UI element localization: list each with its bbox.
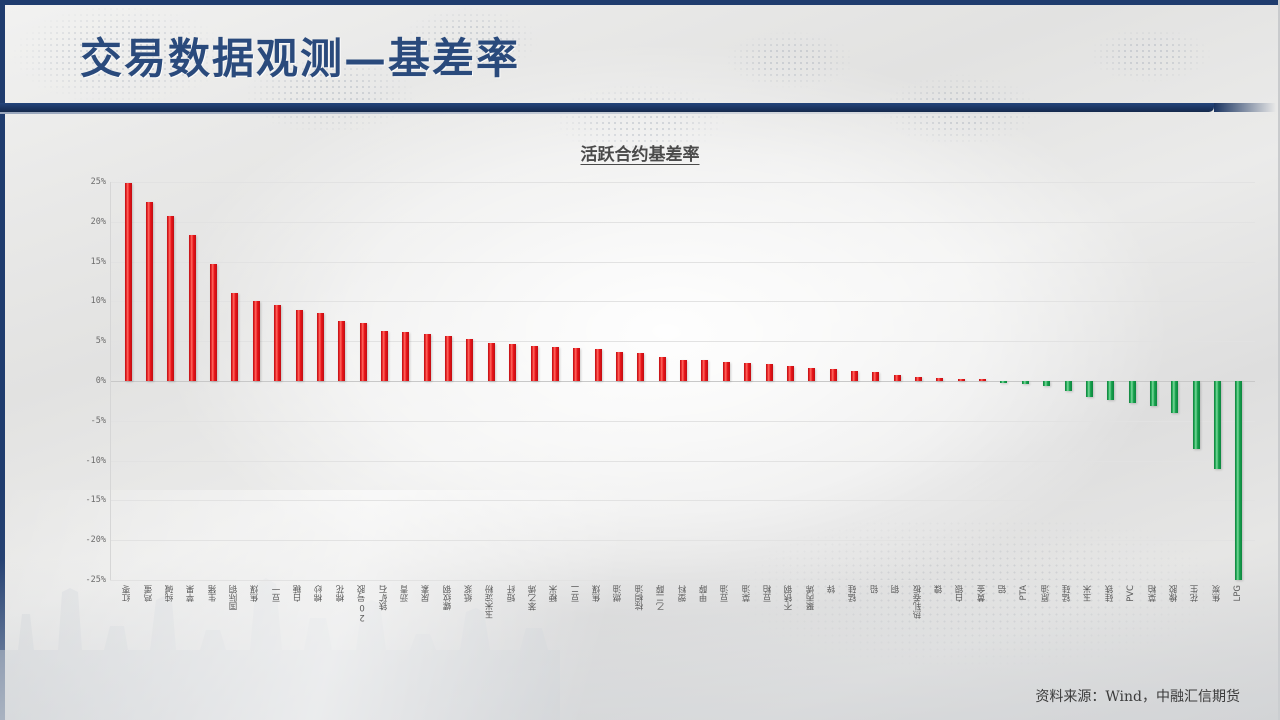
x-label-玉米: 玉米 (1084, 585, 1093, 602)
x-label-锰硅: 锰硅 (1063, 585, 1072, 602)
x-label-豆油: 豆油 (721, 585, 730, 602)
bar-原油 (1043, 381, 1050, 386)
gridline (110, 222, 1255, 223)
x-label-焦煤: 焦煤 (251, 585, 260, 602)
gridline (110, 500, 1255, 501)
bar-聚丙烯 (808, 368, 815, 381)
x-label-黄金: 黄金 (978, 585, 987, 602)
x-label-沥青: 沥青 (401, 585, 410, 602)
x-label-橡胶: 橡胶 (1170, 585, 1179, 602)
bar-20号胶 (360, 323, 367, 381)
bar-甲醇 (701, 360, 708, 381)
bar-鸡蛋 (146, 202, 153, 381)
bar-焦煤 (253, 301, 260, 381)
x-label-短纤: 短纤 (508, 585, 517, 602)
x-label-焦炭: 焦炭 (1213, 585, 1222, 602)
bar-生猪 (210, 264, 217, 381)
x-label-塑料: 塑料 (679, 585, 688, 602)
x-label-玉米淀粉: 玉米淀粉 (486, 585, 495, 619)
title-underline-hairline (0, 112, 1150, 114)
bar-焦炭 (1214, 381, 1221, 469)
bar-玉米 (1086, 381, 1093, 397)
slide-header: 交易数据观测—基差率 (5, 5, 1280, 103)
bar-燃油 (616, 352, 623, 381)
y-tick--15: -15% (76, 495, 106, 505)
zero-line (110, 381, 1255, 382)
x-label-乙二醇: 乙二醇 (657, 585, 666, 611)
x-label-棉花: 棉花 (337, 585, 346, 602)
bar-豆粕 (766, 364, 773, 381)
x-label-白银: 白银 (956, 585, 965, 602)
x-label-镍: 镍 (935, 585, 944, 594)
x-label-花生: 花生 (1191, 585, 1200, 602)
x-label-铝: 铝 (999, 585, 1008, 594)
y-axis-line (110, 182, 111, 580)
bar-镍 (936, 378, 943, 381)
bar-纯碱 (167, 216, 174, 381)
bar-豆二 (573, 348, 580, 381)
x-label-LPG: LPG (1234, 585, 1243, 601)
x-label-生猪: 生猪 (209, 585, 218, 602)
bar-苹果 (189, 235, 196, 381)
y-tick--25: -25% (76, 575, 106, 585)
x-label-聚丙烯: 聚丙烯 (807, 585, 816, 611)
x-label-硅铁: 硅铁 (1106, 585, 1115, 602)
bar-螺纹钢 (445, 336, 452, 381)
bar-热轧卷板 (915, 377, 922, 381)
x-label-棕榈油: 棕榈油 (636, 585, 645, 611)
y-tick-25: 25% (76, 177, 106, 187)
bar-铝 (1000, 381, 1007, 383)
bar-不锈钢 (787, 366, 794, 381)
bar-沥青 (402, 332, 409, 381)
bar-白糖 (296, 310, 303, 381)
x-label-苹果: 苹果 (187, 585, 196, 602)
bar-菜油 (744, 363, 751, 381)
bar-锌 (830, 369, 837, 381)
x-label-PTA: PTA (1020, 585, 1029, 600)
page-title: 交易数据观测—基差率 (80, 25, 520, 86)
y-tick-5: 5% (76, 336, 106, 346)
x-label-PVC: PVC (1127, 585, 1136, 602)
skyline-silhouette-decoration (0, 530, 560, 720)
gridline (110, 580, 1255, 581)
x-label-纸浆: 纸浆 (465, 585, 474, 602)
bar-棉纱 (317, 313, 324, 381)
gridline (110, 182, 1255, 183)
x-label-热轧卷板: 热轧卷板 (914, 585, 923, 619)
gridline (110, 301, 1255, 302)
x-label-纯碱: 纯碱 (166, 585, 175, 602)
bar-豆油 (723, 362, 730, 381)
x-label-豆粕: 豆粕 (764, 585, 773, 602)
x-label-铜: 铜 (892, 585, 901, 594)
gridline (110, 262, 1255, 263)
x-label-尿素: 尿素 (422, 585, 431, 602)
bar-PVC (1129, 381, 1136, 403)
x-label-螺纹钢: 螺纹钢 (444, 585, 453, 611)
x-label-不锈钢: 不锈钢 (785, 585, 794, 611)
bar-苯乙烯 (531, 346, 538, 381)
x-label-燃油: 燃油 (614, 585, 623, 602)
bar-棕榈油 (637, 353, 644, 381)
x-label-白糖: 白糖 (294, 585, 303, 602)
y-tick--10: -10% (76, 456, 106, 466)
x-label-豆二: 豆二 (572, 585, 581, 602)
title-underline-bar (0, 103, 1214, 112)
bar-锰硅 (1065, 381, 1072, 391)
bar-国际铜 (231, 293, 238, 381)
bar-塑料 (680, 360, 687, 381)
x-label-粳米: 粳米 (550, 585, 559, 602)
x-label-20号胶: 20号胶 (358, 585, 367, 622)
x-label-锌: 锌 (828, 585, 837, 594)
bar-短纤 (509, 344, 516, 381)
x-label-甲醇: 甲醇 (700, 585, 709, 602)
source-note: 资料来源：Wind，中融汇信期货 (1035, 686, 1240, 706)
x-label-国际铜: 国际铜 (230, 585, 239, 611)
bar-豆一 (274, 305, 281, 381)
bar-铅 (872, 372, 879, 381)
bar-铁矿石 (381, 331, 388, 381)
x-label-锰硅: 锰硅 (849, 585, 858, 602)
chart-title: 活跃合约基差率 (0, 140, 1280, 165)
bar-黄金 (979, 379, 986, 381)
bar-棉花 (338, 321, 345, 381)
y-tick-0: 0% (76, 376, 106, 386)
bar-铜 (894, 375, 901, 381)
bar-焦煤 (595, 349, 602, 381)
bar-PTA (1022, 381, 1029, 384)
x-label-铅: 铅 (871, 585, 880, 594)
x-label-鸡蛋: 鸡蛋 (145, 585, 154, 602)
x-label-菜粕: 菜粕 (1149, 585, 1158, 602)
bar-粳米 (552, 347, 559, 381)
x-label-豆一: 豆一 (273, 585, 282, 602)
y-tick--5: -5% (76, 416, 106, 426)
gridline (110, 341, 1255, 342)
bar-花生 (1193, 381, 1200, 449)
bar-LPG (1235, 381, 1242, 580)
bar-纸浆 (466, 339, 473, 381)
x-label-原油: 原油 (1042, 585, 1051, 602)
x-label-苯乙烯: 苯乙烯 (529, 585, 538, 611)
y-tick-15: 15% (76, 257, 106, 267)
bar-白银 (958, 379, 965, 381)
y-tick--20: -20% (76, 535, 106, 545)
bar-尿素 (424, 334, 431, 381)
y-tick-20: 20% (76, 217, 106, 227)
bar-乙二醇 (659, 357, 666, 381)
x-label-焦煤: 焦煤 (593, 585, 602, 602)
x-label-红枣: 红枣 (123, 585, 132, 602)
bar-玉米淀粉 (488, 343, 495, 381)
bar-红枣 (125, 183, 132, 381)
y-tick-10: 10% (76, 296, 106, 306)
x-label-菜油: 菜油 (743, 585, 752, 602)
x-label-棉纱: 棉纱 (315, 585, 324, 602)
bar-锰硅 (851, 371, 858, 381)
x-label-铁矿石: 铁矿石 (380, 585, 389, 611)
bar-硅铁 (1107, 381, 1114, 400)
gridline (110, 461, 1255, 462)
bar-橡胶 (1171, 381, 1178, 413)
bar-菜粕 (1150, 381, 1157, 406)
gridline (110, 421, 1255, 422)
gridline (110, 540, 1255, 541)
